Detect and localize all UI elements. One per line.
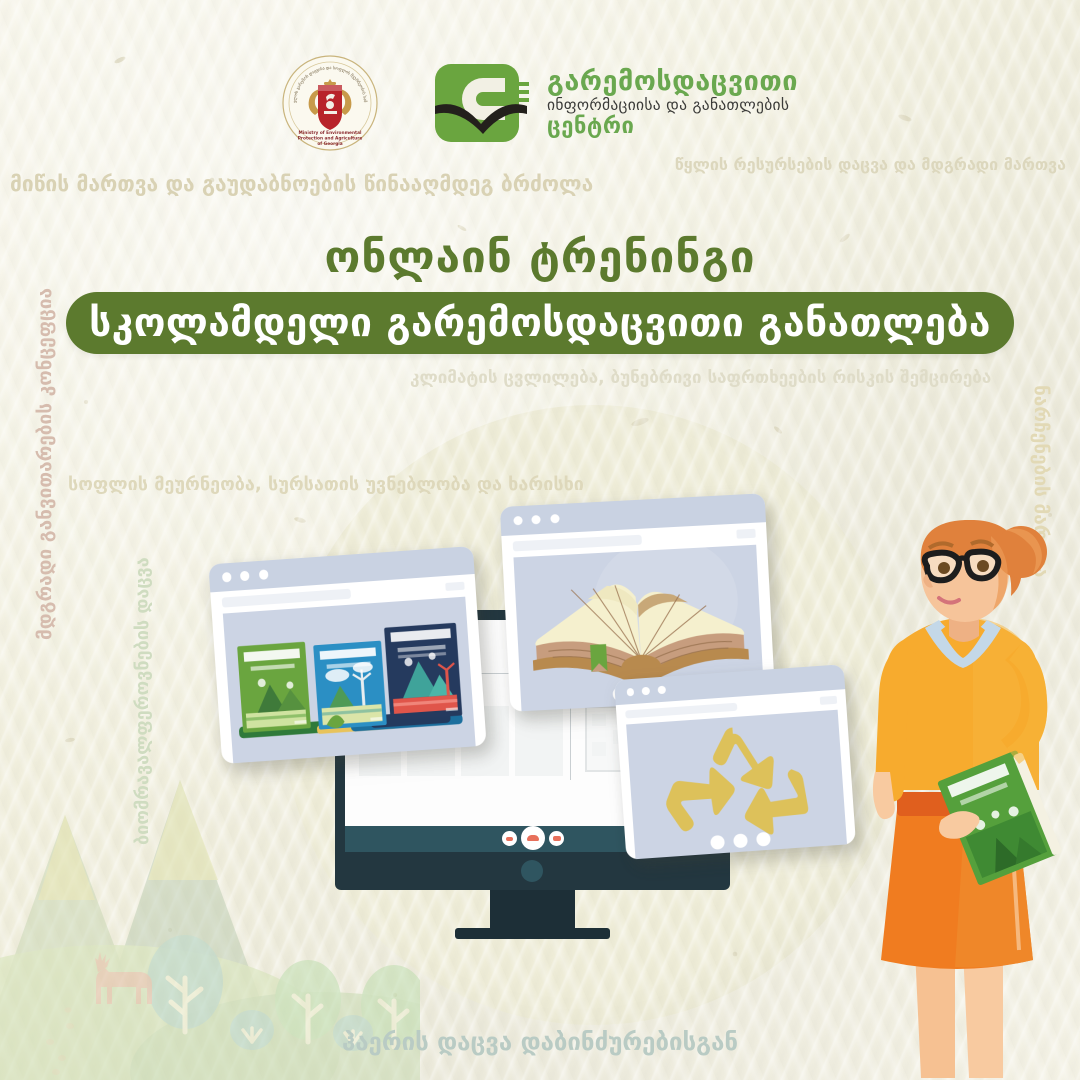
teacher-woman xyxy=(845,520,1080,1080)
book-cover-blue xyxy=(313,641,387,730)
main-title-bar: სკოლამდელი გარემოსდაცვითი განათლება xyxy=(66,292,1014,354)
url-action-button[interactable] xyxy=(445,581,465,591)
watermark-vertical-left-outer: მდგრადი განვითარების კონცეფცია xyxy=(34,288,56,640)
carousel-dot[interactable] xyxy=(733,833,748,848)
book-cover-green xyxy=(237,642,311,733)
window-dot-icon xyxy=(514,516,524,526)
leg-left xyxy=(915,950,955,1078)
eiec-logo-line2: ინფორმაციისა და განათლების xyxy=(547,98,798,114)
carousel-dot[interactable] xyxy=(756,832,771,847)
url-action-button[interactable] xyxy=(820,696,837,705)
svg-text:Protection and Agriculture: Protection and Agriculture xyxy=(298,136,363,142)
camera-button[interactable] xyxy=(549,831,564,846)
browser-card-books[interactable] xyxy=(208,546,486,764)
screen-tile xyxy=(515,706,563,776)
header-logos: საქართველოს გარემოს დაცვისა და სოფლის მე… xyxy=(0,48,1080,158)
kicker-title: ონლაინ ტრენინგი xyxy=(0,232,1080,283)
window-dot-icon xyxy=(657,685,665,693)
url-action-button[interactable] xyxy=(736,529,756,539)
svg-text:Ministry of Environmental: Ministry of Environmental xyxy=(299,130,362,136)
eye-right xyxy=(977,560,989,572)
browser-card-recycle[interactable] xyxy=(614,664,856,860)
ministry-emblem: საქართველოს გარემოს დაცვისა და სოფლის მე… xyxy=(282,55,378,151)
eiec-logo: გარემოსდაცვითი ინფორმაციისა და განათლები… xyxy=(433,60,798,146)
url-field[interactable] xyxy=(512,535,642,551)
watermark-mid-right: კლიმატის ცვლილება, ბუნებრივი საფრთხეების… xyxy=(410,368,991,388)
watermark-top-left: მიწის მართვა და გაუდაბნოების წინააღმდეგ … xyxy=(10,172,593,196)
card-viewport xyxy=(626,710,847,859)
window-dot-icon xyxy=(626,688,634,696)
eiec-logo-line3: ცენტრი xyxy=(547,116,798,138)
monitor-neck xyxy=(490,890,575,932)
card-viewport xyxy=(222,597,476,764)
window-dot-icon xyxy=(642,686,650,694)
monitor-power-knob xyxy=(521,860,543,882)
monitor-foot xyxy=(455,928,610,939)
screen-thumb xyxy=(592,714,606,726)
books-illustration xyxy=(222,597,476,764)
window-dot-icon xyxy=(240,571,250,581)
book-cover-navy xyxy=(384,623,462,721)
carousel-dot[interactable] xyxy=(710,835,725,850)
leg-right xyxy=(963,950,1003,1078)
poster-canvas: საქართველოს გარემოს დაცვისა და სოფლის მე… xyxy=(0,0,1080,1080)
url-field[interactable] xyxy=(221,589,351,607)
svg-text:of Georgia: of Georgia xyxy=(317,141,342,147)
window-dot-icon xyxy=(550,514,560,524)
screen-thumb xyxy=(592,742,606,756)
end-call-button[interactable] xyxy=(521,826,545,850)
eye-left xyxy=(938,562,950,574)
mic-button[interactable] xyxy=(502,831,517,846)
window-dot-icon xyxy=(222,572,232,582)
eiec-logo-line1: გარემოსდაცვითი xyxy=(547,68,798,95)
eiec-logo-mark xyxy=(433,60,533,146)
window-dot-icon xyxy=(258,570,268,580)
main-title: სკოლამდელი გარემოსდაცვითი განათლება xyxy=(89,301,991,346)
url-field[interactable] xyxy=(625,703,737,719)
window-dot-icon xyxy=(532,515,542,525)
